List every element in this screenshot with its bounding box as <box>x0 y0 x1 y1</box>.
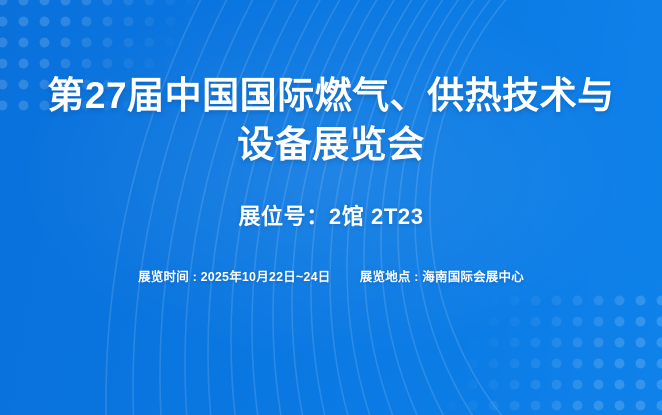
exhibition-venue: 展览地点 : 海南国际会展中心 <box>360 270 524 284</box>
banner-title-line-1: 第27届中国国际燃气、供热技术与 <box>34 72 628 121</box>
exhibition-banner: 第27届中国国际燃气、供热技术与 设备展览会 展位号：2馆 2T23 展览时间 … <box>0 0 662 415</box>
exhibition-date: 展览时间 : 2025年10月22日~24日 <box>138 270 330 284</box>
banner-title-line-2: 设备展览会 <box>34 121 628 170</box>
banner-title: 第27届中国国际燃气、供热技术与 设备展览会 <box>34 72 628 170</box>
banner-content: 第27届中国国际燃气、供热技术与 设备展览会 展位号：2馆 2T23 展览时间 … <box>0 0 662 415</box>
banner-meta: 展览时间 : 2025年10月22日~24日 展览地点 : 海南国际会展中心 <box>34 266 628 285</box>
booth-number: 展位号：2馆 2T23 <box>34 199 628 231</box>
